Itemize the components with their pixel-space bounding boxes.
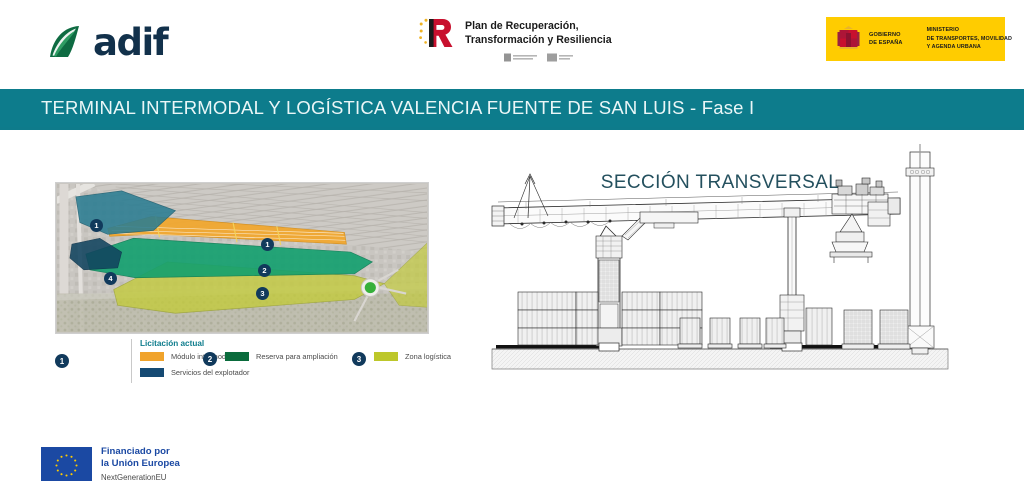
prtr-emblem-icon <box>418 15 456 55</box>
legend-swatch-reserva-ampliacion <box>225 352 249 361</box>
content-area: 1 1 2 3 4 1 Licitación actual Módulo int… <box>0 130 1024 502</box>
legend-item-zona-logistica: Zona logística <box>374 352 451 361</box>
map-legend: 1 Licitación actual Módulo intermodal Se… <box>55 339 435 383</box>
map-marker-4[interactable]: 4 <box>104 272 117 285</box>
gobierno-mini-icon <box>504 53 538 62</box>
header-bar: adif Plan de Recuperación, Transformació… <box>0 0 1024 89</box>
legend-item-reserva-ampliacion: Reserva para ampliación <box>225 352 338 361</box>
map-marker-2[interactable]: 2 <box>258 264 271 277</box>
site-plan-map[interactable]: 1 1 2 3 4 <box>55 182 429 334</box>
map-marker-1-orange[interactable]: 1 <box>261 238 274 251</box>
legend-swatch-zona-logistica <box>374 352 398 361</box>
adif-leaf-icon <box>46 22 86 62</box>
legend-number-1: 1 <box>55 354 69 368</box>
eu-funding-logo: Financiado por la Unión Europea NextGene… <box>41 446 180 482</box>
legend-label-zona-logistica: Zona logística <box>405 352 451 361</box>
eu-flag-icon <box>41 447 92 481</box>
page-title: TERMINAL INTERMODAL Y LOGÍSTICA VALENCIA… <box>41 89 754 127</box>
ministerio-col-2: MINISTERIO DE TRANSPORTES, MOVILIDAD Y A… <box>927 26 1012 51</box>
legend-number-3: 3 <box>352 352 366 366</box>
map-marker-3[interactable]: 3 <box>256 287 269 300</box>
gobierno-label-1: GOBIERNO <box>869 31 903 39</box>
prtr-sub-emblems <box>465 53 612 62</box>
ministerio-label-3: Y AGENDA URBANA <box>927 43 1012 51</box>
eu-line-2: la Unión Europea <box>101 458 180 470</box>
gobierno-de-espana-logo: GOBIERNO DE ESPAÑA MINISTERIO DE TRANSPO… <box>826 17 1005 61</box>
title-band: TERMINAL INTERMODAL Y LOGÍSTICA VALENCIA… <box>0 89 1024 130</box>
prtr-line-1: Plan de Recuperación, <box>465 20 612 34</box>
gobierno-col-1: GOBIERNO DE ESPAÑA <box>869 31 903 48</box>
prtr-text-block: Plan de Recuperación, Transformación y R… <box>465 15 612 62</box>
prtr-line-2: Transformación y Resiliencia <box>465 34 612 48</box>
union-europea-mini-icon <box>547 53 573 62</box>
legend-number-2: 2 <box>203 352 217 366</box>
site-plan-aerial-svg <box>56 183 428 333</box>
cross-section-drawing[interactable]: SECCIÓN TRANSVERSAL <box>470 140 970 385</box>
legend-divider <box>131 339 132 383</box>
adif-wordmark: adif <box>93 24 167 61</box>
legend-item-servicios-explotador: Servicios del explotador <box>140 368 249 377</box>
legend-label-modulo-intermodal: Módulo intermodal <box>171 352 232 361</box>
slide-root: adif Plan de Recuperación, Transformació… <box>0 0 1024 502</box>
legend-heading: Licitación actual <box>140 339 204 348</box>
prtr-logo: Plan de Recuperación, Transformación y R… <box>418 15 612 62</box>
legend-swatch-modulo-intermodal <box>140 352 164 361</box>
gantry-crane-section-svg <box>470 140 970 385</box>
legend-item-modulo-intermodal: Módulo intermodal <box>140 352 232 361</box>
legend-label-servicios-explotador: Servicios del explotador <box>171 368 249 377</box>
legend-label-reserva-ampliacion: Reserva para ampliación <box>256 352 338 361</box>
eu-text-block: Financiado por la Unión Europea NextGene… <box>101 446 180 482</box>
map-marker-1-blue[interactable]: 1 <box>90 219 103 232</box>
eu-line-3: NextGenerationEU <box>101 473 180 482</box>
ministerio-label-1: MINISTERIO <box>927 26 1012 34</box>
spain-coat-of-arms-icon <box>836 24 861 54</box>
adif-logo: adif <box>46 22 167 62</box>
gobierno-label-2: DE ESPAÑA <box>869 39 903 47</box>
ministerio-label-2: DE TRANSPORTES, MOVILIDAD <box>927 35 1012 43</box>
eu-line-1: Financiado por <box>101 446 180 458</box>
legend-swatch-servicios-explotador <box>140 368 164 377</box>
